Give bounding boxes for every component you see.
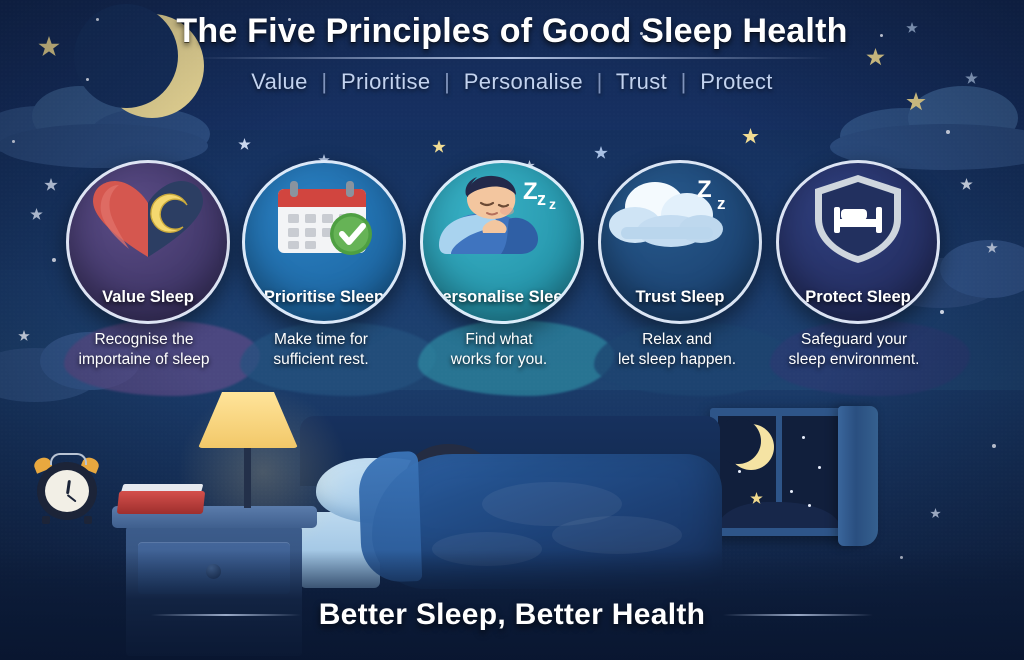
poster-footer: Better Sleep, Better Health xyxy=(0,588,1024,642)
sleeping-person-icon: Z z z xyxy=(423,171,581,263)
subtitle-word-value: Value xyxy=(251,69,308,94)
svg-text:z: z xyxy=(549,196,556,212)
principle-label-protect: Protect Sleep xyxy=(779,288,937,307)
principle-caption-personalise: Find what works for you. xyxy=(411,330,587,371)
curtain-icon xyxy=(838,406,878,546)
subtitle-word-trust: Trust xyxy=(616,69,667,94)
footer-divider-left xyxy=(151,614,301,616)
calendar-check-icon xyxy=(245,171,403,263)
subtitle-word-prioritise: Prioritise xyxy=(341,69,431,94)
footer-tagline: Better Sleep, Better Health xyxy=(319,598,706,632)
crescent-moon-icon xyxy=(728,424,774,470)
principle-label-value: Value Sleep xyxy=(69,288,227,307)
subtitle-separator: | xyxy=(437,69,457,94)
subtitle-separator: | xyxy=(590,69,610,94)
bedside-lamp-icon xyxy=(192,392,304,517)
infographic-poster: The Five Principles of Good Sleep Health… xyxy=(0,0,1024,660)
principles-row: Value Sleep xyxy=(0,160,1024,310)
principle-circle-value[interactable]: Value Sleep xyxy=(66,160,230,324)
principle-circle-personalise[interactable]: Z z z Personalise Sleep xyxy=(420,160,584,324)
svg-text:Z: Z xyxy=(523,178,538,205)
shield-bed-icon xyxy=(779,171,937,263)
principle-label-trust: Trust Sleep xyxy=(601,288,759,307)
principle-caption-trust: Relax and let sleep happen. xyxy=(589,330,765,371)
principle-label-personalise: Personalise Sleep xyxy=(423,288,581,307)
window-icon xyxy=(710,408,848,536)
svg-text:Z: Z xyxy=(697,176,712,203)
principle-circle-trust[interactable]: Z z Trust Sleep xyxy=(598,160,762,324)
subtitle-keywords: Value | Prioritise | Personalise | Trust… xyxy=(0,69,1024,95)
captions-row: Recognise the importaine of sleep Make t… xyxy=(0,322,1024,392)
principle-caption-prioritise: Make time for sufficient rest. xyxy=(233,330,409,371)
svg-text:z: z xyxy=(717,194,726,213)
heart-moon-icon xyxy=(69,171,227,263)
subtitle-word-personalise: Personalise xyxy=(464,69,583,94)
subtitle-word-protect: Protect xyxy=(700,69,773,94)
principle-circle-protect[interactable]: Protect Sleep xyxy=(776,160,940,324)
poster-header: The Five Principles of Good Sleep Health… xyxy=(0,12,1024,95)
footer-divider-right xyxy=(723,614,873,616)
principle-caption-value: Recognise the importaine of sleep xyxy=(56,330,232,371)
page-title: The Five Principles of Good Sleep Health xyxy=(0,12,1024,51)
subtitle-separator: | xyxy=(674,69,694,94)
principle-label-prioritise: Prioritise Sleep xyxy=(245,288,403,307)
subtitle-separator: | xyxy=(314,69,334,94)
svg-text:z: z xyxy=(537,189,546,209)
alarm-clock-icon xyxy=(34,452,100,524)
principle-caption-protect: Safeguard your sleep environment. xyxy=(766,330,942,371)
title-divider xyxy=(192,57,832,59)
cloud-zzz-icon: Z z xyxy=(601,171,759,263)
book-icon xyxy=(118,484,204,514)
principle-circle-prioritise[interactable]: Prioritise Sleep xyxy=(242,160,406,324)
